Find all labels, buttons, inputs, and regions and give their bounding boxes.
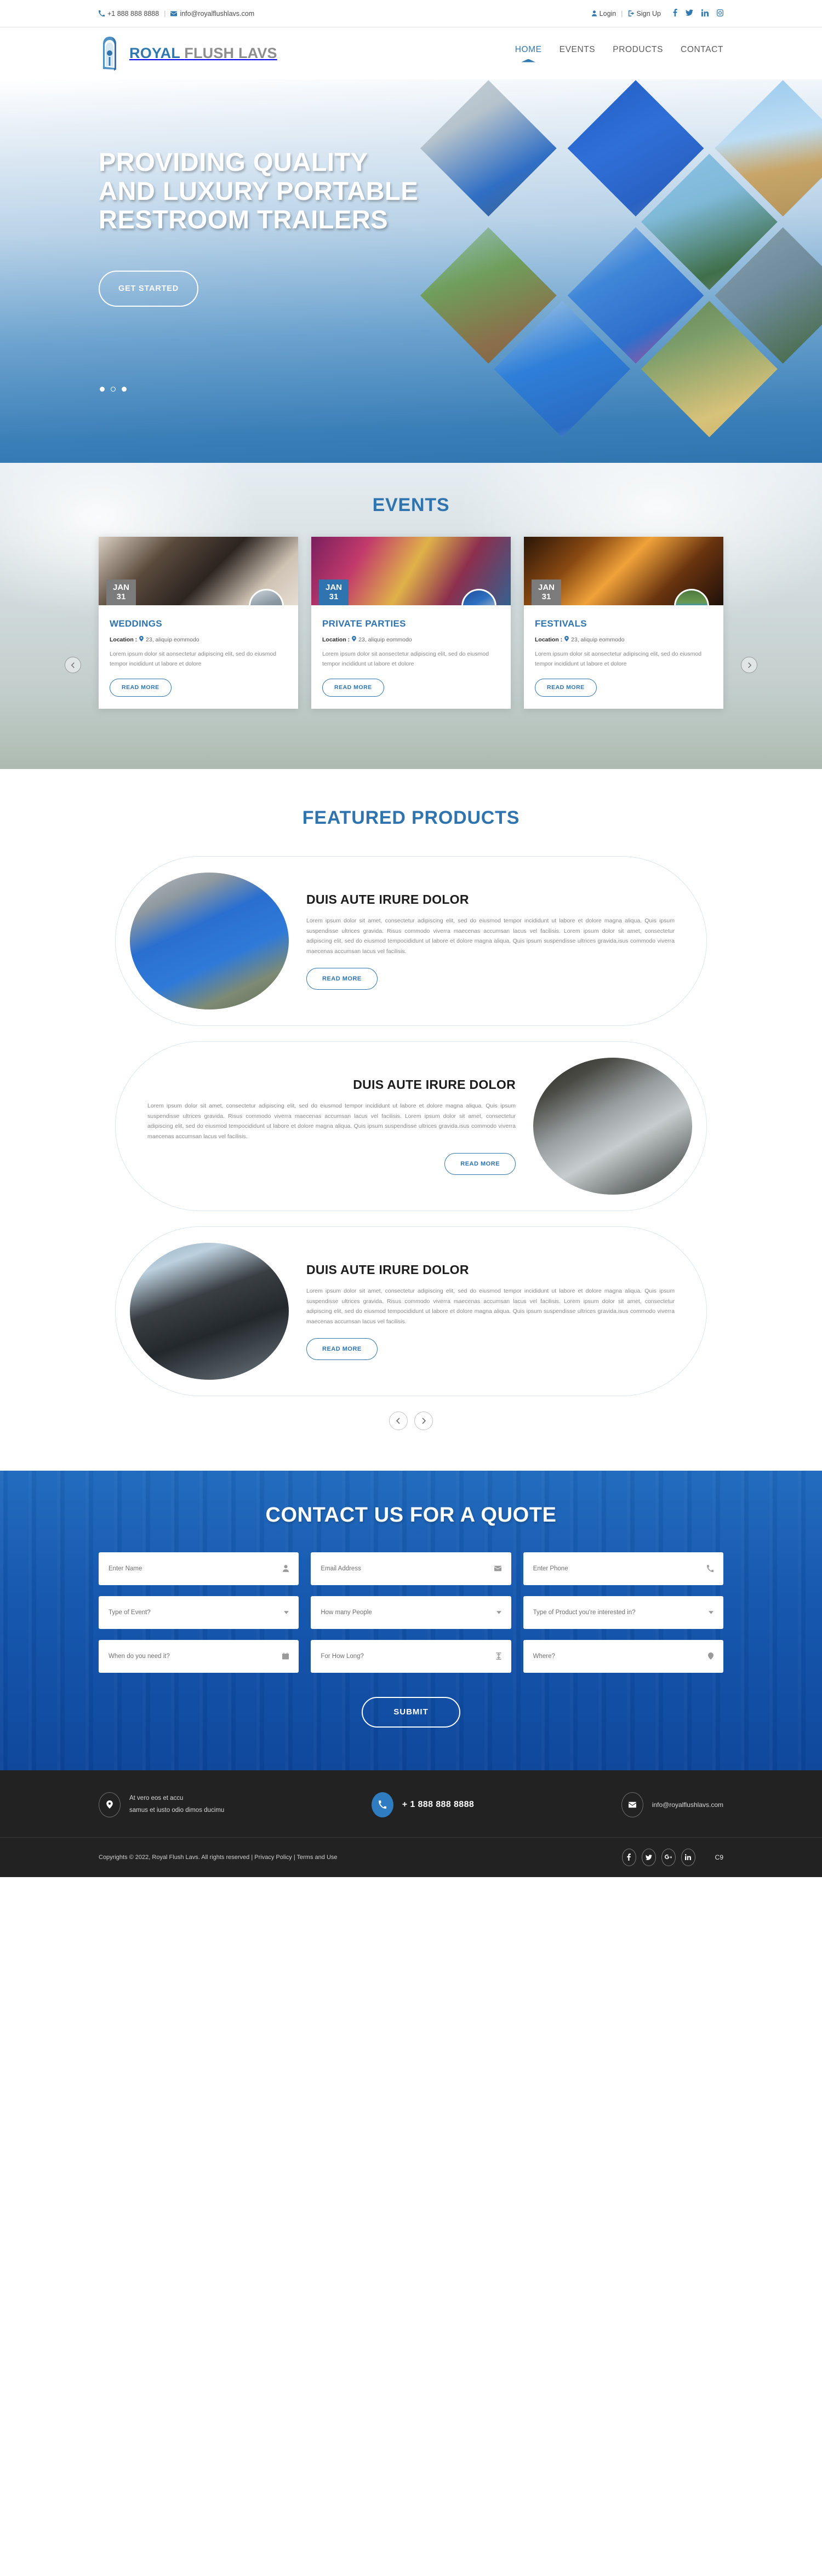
event-card-title: WEDDINGS (110, 618, 287, 629)
chevron-left-icon (65, 657, 81, 673)
linkedin-icon[interactable] (701, 9, 709, 18)
c9-badge: C9 (715, 1854, 723, 1861)
name-field-placeholder: Enter Name (109, 1565, 142, 1572)
hero-copy: PROVIDING QUALITY AND LUXURY PORTABLE RE… (99, 148, 418, 307)
main-nav: HOME EVENTS PRODUCTS CONTACT (515, 45, 723, 62)
product-title: DUIS AUTE IRURE DOLOR (147, 1077, 516, 1092)
product-title: DUIS AUTE IRURE DOLOR (306, 1263, 675, 1277)
event-location-row: Location : 23, aliquip eommodo (535, 636, 712, 643)
caret-down-icon (709, 1611, 713, 1614)
event-card[interactable]: JAN 31 FESTIVALS Location : 23, aliqui (524, 537, 723, 709)
footer-address-text: At vero eos et accu samus et iusto odio … (129, 1793, 224, 1817)
hero-line-2: AND LUXURY PORTABLE (99, 176, 418, 205)
brand-word-2: FLUSH LAVS (184, 45, 277, 61)
people-count-select[interactable]: How many People (311, 1596, 511, 1629)
submit-button[interactable]: SUBMIT (362, 1697, 460, 1728)
calendar-icon (282, 1653, 289, 1660)
nav-item-events[interactable]: EVENTS (560, 45, 596, 62)
top-separator-2: | (621, 10, 623, 18)
hero-dot-3[interactable] (122, 387, 127, 392)
brand-wordmark: ROYAL FLUSH LAVS (129, 45, 277, 62)
signup-label: Sign Up (637, 10, 661, 18)
products-section: FEATURED PRODUCTS DUIS AUTE IRURE DOLOR … (0, 769, 822, 1471)
footer-phone[interactable]: + 1 888 888 8888 (372, 1792, 474, 1817)
product-card: DUIS AUTE IRURE DOLOR Lorem ipsum dolor … (115, 1226, 707, 1396)
hero-dot-2[interactable] (111, 387, 116, 392)
copyright-bar: Copyrights © 2022, Royal Flush Lavs. All… (0, 1837, 822, 1877)
terms-link[interactable]: Terms and Use (297, 1854, 338, 1861)
nav-item-products[interactable]: PRODUCTS (613, 45, 663, 62)
hero-section: PROVIDING QUALITY AND LUXURY PORTABLE RE… (0, 79, 822, 463)
outhouse-logo-icon (99, 35, 122, 72)
event-location-value: 23, aliquip eommodo (571, 636, 624, 643)
event-card[interactable]: JAN 31 PRIVATE PARTIES Location : 23, (311, 537, 511, 709)
google-plus-icon[interactable] (661, 1849, 676, 1866)
envelope-icon (494, 1565, 501, 1571)
twitter-icon[interactable] (686, 9, 693, 18)
user-icon (592, 10, 597, 16)
chevron-left-icon (395, 1418, 402, 1424)
email-field[interactable]: Email Address (311, 1552, 511, 1585)
event-read-more-button[interactable]: READ MORE (322, 679, 384, 697)
product-body: DUIS AUTE IRURE DOLOR Lorem ipsum dolor … (116, 1077, 519, 1175)
privacy-policy-link[interactable]: Privacy Policy (254, 1854, 292, 1861)
products-carousel-controls (0, 1412, 822, 1430)
top-email-link[interactable]: info@royalflushlavs.com (170, 10, 254, 18)
event-card-image: JAN 31 (524, 537, 723, 605)
chevron-right-icon (741, 657, 757, 673)
name-field[interactable]: Enter Name (99, 1552, 299, 1585)
brand-word-1: ROYAL (129, 45, 180, 61)
product-card: DUIS AUTE IRURE DOLOR Lorem ipsum dolor … (115, 1041, 707, 1211)
event-date-badge: JAN 31 (532, 580, 561, 605)
footer-address-line-1: At vero eos et accu (129, 1793, 224, 1805)
top-social-group (673, 9, 723, 18)
event-card-body: WEDDINGS Location : 23, aliquip eommodo … (99, 605, 298, 709)
copyright-text: Copyrights © 2022, Royal Flush Lavs. All… (99, 1854, 249, 1861)
events-title: EVENTS (99, 495, 723, 516)
map-pin-icon (564, 636, 569, 643)
user-icon (283, 1565, 289, 1572)
footer-contact-row: At vero eos et accu samus et iusto odio … (99, 1792, 723, 1837)
event-card-body: FESTIVALS Location : 23, aliquip eommodo… (524, 605, 723, 709)
twitter-icon[interactable] (642, 1849, 656, 1866)
footer-social-group: C9 (622, 1849, 723, 1866)
signup-link[interactable]: Sign Up (628, 10, 661, 18)
contact-section: CONTACT US FOR A QUOTE Enter Name Email … (0, 1471, 822, 1770)
top-phone-text: +1 888 888 8888 (107, 10, 159, 18)
site-footer: At vero eos et accu samus et iusto odio … (0, 1770, 822, 1877)
top-phone-link[interactable]: +1 888 888 8888 (99, 10, 159, 18)
event-location-label: Location : (535, 636, 562, 643)
contact-title: CONTACT US FOR A QUOTE (99, 1504, 723, 1527)
event-card-desc: Lorem ipsum dolor sit aonsectetur adipis… (535, 649, 712, 669)
product-body: DUIS AUTE IRURE DOLOR Lorem ipsum dolor … (303, 892, 706, 990)
phone-field[interactable]: Enter Phone (523, 1552, 723, 1585)
top-bar-contact-group: +1 888 888 8888 | info@royalflushlavs.co… (99, 10, 254, 18)
event-card-title: PRIVATE PARTIES (322, 618, 500, 629)
product-read-more-button[interactable]: READ MORE (444, 1153, 516, 1175)
phone-icon (99, 10, 105, 16)
caret-down-icon (496, 1611, 501, 1614)
event-location-row: Location : 23, aliquip eommodo (110, 636, 287, 643)
event-month: JAN (106, 583, 136, 593)
product-type-placeholder: Type of Product you're interested in? (533, 1609, 636, 1616)
product-image (130, 1243, 289, 1380)
product-button-row: READ MORE (147, 1153, 516, 1175)
event-card-image: JAN 31 (99, 537, 298, 605)
brand-logo[interactable]: ROYAL FLUSH LAVS (99, 35, 277, 72)
location-placeholder: Where? (533, 1653, 555, 1660)
event-month: JAN (319, 583, 349, 593)
date-needed-placeholder: When do you need it? (109, 1653, 170, 1660)
event-location-row: Location : 23, aliquip eommodo (322, 636, 500, 643)
events-section: EVENTS JAN 31 (0, 463, 822, 769)
caret-down-icon (284, 1611, 289, 1614)
map-pin-icon (139, 636, 144, 643)
site-header: ROYAL FLUSH LAVS HOME EVENTS PRODUCTS CO… (0, 27, 822, 79)
product-read-more-button[interactable]: READ MORE (306, 1338, 378, 1360)
event-type-placeholder: Type of Event? (109, 1609, 151, 1616)
instagram-icon[interactable] (717, 9, 723, 18)
product-image (130, 873, 289, 1009)
duration-icon (496, 1653, 501, 1660)
events-prev-button[interactable] (65, 657, 81, 673)
page-root: +1 888 888 8888 | info@royalflushlavs.co… (0, 0, 822, 1877)
event-month: JAN (532, 583, 561, 593)
product-type-select[interactable]: Type of Product you're interested in? (523, 1596, 723, 1629)
email-field-placeholder: Email Address (321, 1565, 361, 1572)
hero-heading: PROVIDING QUALITY AND LUXURY PORTABLE RE… (99, 148, 418, 234)
map-pin-icon (99, 1792, 121, 1817)
event-day: 31 (319, 593, 349, 602)
hero-dot-1[interactable] (100, 387, 105, 392)
event-location-value: 23, aliquip eommodo (358, 636, 412, 643)
top-bar-account-group: Login | Sign Up (592, 9, 723, 18)
footer-phone-text: + 1 888 888 8888 (402, 1800, 474, 1810)
event-read-more-button[interactable]: READ MORE (110, 679, 172, 697)
hero-line-3: RESTROOM TRAILERS (99, 205, 388, 234)
footer-email[interactable]: info@royalflushlavs.com (621, 1792, 723, 1817)
date-needed-field[interactable]: When do you need it? (99, 1640, 299, 1673)
phone-field-placeholder: Enter Phone (533, 1565, 568, 1572)
nav-item-contact[interactable]: CONTACT (681, 45, 723, 62)
event-card-image: JAN 31 (311, 537, 511, 605)
event-card-title: FESTIVALS (535, 618, 712, 629)
copyright-text-group: Copyrights © 2022, Royal Flush Lavs. All… (99, 1854, 338, 1861)
chevron-right-icon (420, 1418, 427, 1424)
phone-icon (372, 1792, 393, 1817)
product-button-row: READ MORE (306, 1338, 675, 1360)
product-read-more-button[interactable]: READ MORE (306, 968, 378, 990)
location-field[interactable]: Where? (523, 1640, 723, 1673)
envelope-icon (621, 1792, 643, 1817)
submit-row: SUBMIT (99, 1697, 723, 1728)
product-description: Lorem ipsum dolor sit amet, consectetur … (147, 1101, 516, 1142)
envelope-icon (170, 11, 177, 16)
products-next-button[interactable] (414, 1412, 433, 1430)
nav-item-home[interactable]: HOME (515, 45, 542, 62)
event-date-badge: JAN 31 (319, 580, 349, 605)
event-location-label: Location : (110, 636, 137, 643)
event-thumb-avatar (674, 589, 709, 605)
event-date-badge: JAN 31 (106, 580, 136, 605)
event-card-body: PRIVATE PARTIES Location : 23, aliquip e… (311, 605, 511, 709)
event-card-desc: Lorem ipsum dolor sit aonsectetur adipis… (110, 649, 287, 669)
event-thumb-avatar (461, 589, 496, 605)
product-body: DUIS AUTE IRURE DOLOR Lorem ipsum dolor … (303, 1263, 706, 1360)
get-started-button[interactable]: GET STARTED (99, 271, 198, 307)
top-email-text: info@royalflushlavs.com (180, 10, 254, 18)
footer-address-line-2: samus et iusto odio dimos ducimu (129, 1805, 224, 1817)
product-card: DUIS AUTE IRURE DOLOR Lorem ipsum dolor … (115, 856, 707, 1026)
products-title: FEATURED PRODUCTS (0, 807, 822, 829)
events-next-button[interactable] (741, 657, 757, 673)
event-card-desc: Lorem ipsum dolor sit aonsectetur adipis… (322, 649, 500, 669)
product-title: DUIS AUTE IRURE DOLOR (306, 892, 675, 907)
event-day: 31 (106, 593, 136, 602)
product-description: Lorem ipsum dolor sit amet, consectetur … (306, 1286, 675, 1327)
linkedin-icon[interactable] (681, 1849, 695, 1866)
top-bar: +1 888 888 8888 | info@royalflushlavs.co… (0, 0, 822, 27)
event-location-value: 23, aliquip eommodo (146, 636, 199, 643)
login-label: Login (600, 10, 616, 18)
map-pin-icon (708, 1653, 713, 1660)
event-day: 31 (532, 593, 561, 602)
facebook-icon[interactable] (622, 1849, 636, 1866)
duration-placeholder: For How Long? (321, 1653, 364, 1660)
footer-address: At vero eos et accu samus et iusto odio … (99, 1792, 224, 1817)
product-description: Lorem ipsum dolor sit amet, consectetur … (306, 916, 675, 957)
people-count-placeholder: How many People (321, 1609, 372, 1616)
top-separator: | (164, 10, 165, 18)
product-button-row: READ MORE (306, 968, 675, 990)
events-grid: JAN 31 WEDDINGS Location : 23, aliquip (99, 537, 723, 709)
signup-icon (628, 10, 634, 16)
duration-field[interactable]: For How Long? (311, 1640, 511, 1673)
event-location-label: Location : (322, 636, 350, 643)
event-type-select[interactable]: Type of Event? (99, 1596, 299, 1629)
product-image (533, 1058, 692, 1195)
login-link[interactable]: Login (592, 10, 616, 18)
quote-form: Enter Name Email Address Enter Phone (99, 1552, 723, 1673)
copyright-sep-2: | (294, 1854, 295, 1861)
copyright-sep-1: | (251, 1854, 253, 1861)
hero-carousel-dots (100, 387, 127, 392)
event-card[interactable]: JAN 31 WEDDINGS Location : 23, aliquip (99, 537, 298, 709)
hero-line-1: PROVIDING QUALITY (99, 147, 368, 176)
products-prev-button[interactable] (389, 1412, 408, 1430)
facebook-icon[interactable] (673, 9, 677, 18)
phone-icon (707, 1565, 713, 1572)
footer-email-text: info@royalflushlavs.com (652, 1801, 723, 1809)
event-thumb-avatar (249, 589, 284, 605)
event-read-more-button[interactable]: READ MORE (535, 679, 597, 697)
map-pin-icon (352, 636, 356, 643)
